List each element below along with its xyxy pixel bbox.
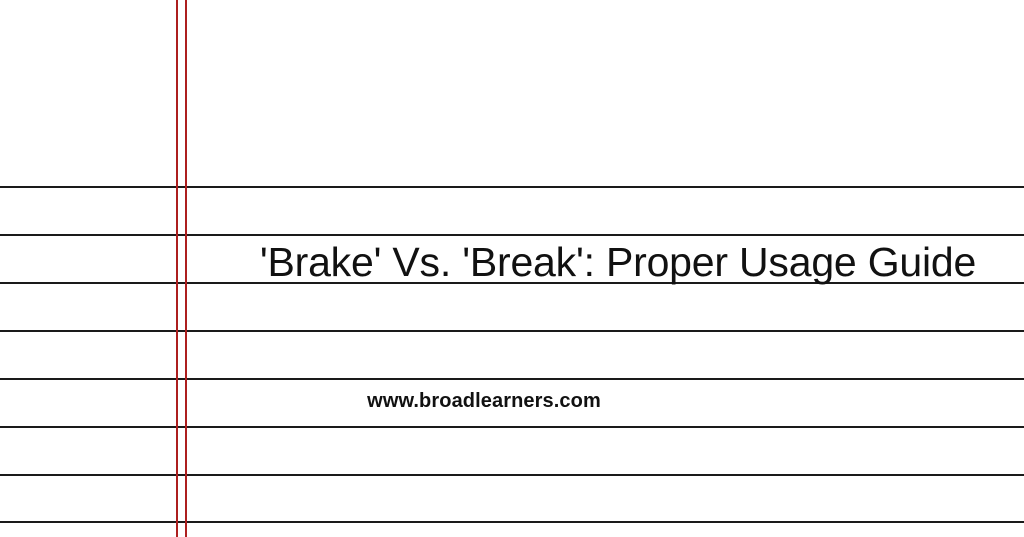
page-title: 'Brake' Vs. 'Break': Proper Usage Guide bbox=[0, 240, 1024, 284]
rule-line bbox=[0, 521, 1024, 523]
rule-line bbox=[0, 426, 1024, 428]
rule-line bbox=[0, 378, 1024, 380]
notebook-page: 'Brake' Vs. 'Break': Proper Usage Guide … bbox=[0, 0, 1024, 537]
rule-line bbox=[0, 234, 1024, 236]
page-title-text: 'Brake' Vs. 'Break': Proper Usage Guide bbox=[260, 240, 976, 284]
rule-line bbox=[0, 474, 1024, 476]
site-url-text: www.broadlearners.com bbox=[367, 389, 601, 413]
rule-line bbox=[0, 330, 1024, 332]
site-url: www.broadlearners.com bbox=[0, 389, 1024, 413]
rule-line bbox=[0, 186, 1024, 188]
